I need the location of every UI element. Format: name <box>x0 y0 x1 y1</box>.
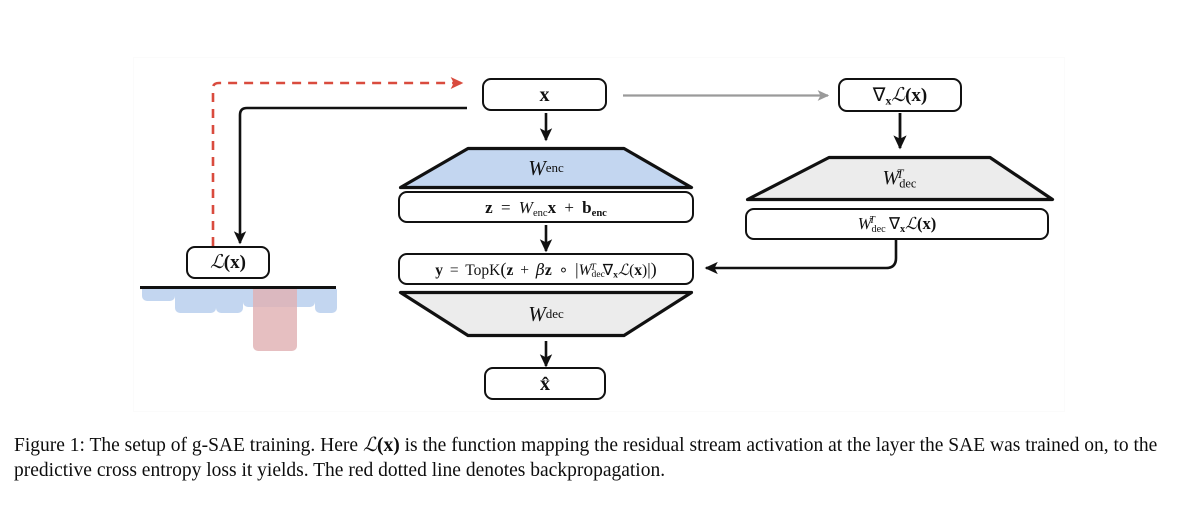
decoder-trapezoid-shape <box>398 290 694 338</box>
node-gradient-loss[interactable]: ∇xℒ(x) ∇_x ℒ(x) <box>838 78 962 112</box>
node-encoder-trapezoid[interactable]: Wenc <box>398 146 694 190</box>
loss-activation-bar-chart <box>140 286 345 386</box>
encoder-equation-math: z = Wencx + benc <box>485 199 607 216</box>
bar-item <box>175 289 216 313</box>
node-input-x[interactable]: x <box>482 78 607 111</box>
node-loss-Lx[interactable]: ℒ(x) ℒ(x) <box>186 246 270 279</box>
node-projected-gradient[interactable]: WdecT∇xℒ(x) W_dec^T ∇_x ℒ(x) <box>745 208 1049 240</box>
node-xhat-label: x̂ <box>540 374 550 394</box>
node-decoder-trapezoid[interactable]: Wdec <box>398 290 694 338</box>
loss-Lx-math: ℒ(x) <box>210 253 246 272</box>
bar-item <box>216 289 243 313</box>
node-topk-equation[interactable]: y = TopK(z + βz ∘ |WdecT∇xℒ(x)|) y = Top… <box>398 253 694 285</box>
encoder-trapezoid-shape <box>398 146 694 190</box>
gradient-loss-math: ∇xℒ(x) <box>873 86 927 105</box>
node-reconstruction-xhat[interactable]: x̂ <box>484 367 606 400</box>
node-input-x-label: x <box>540 85 550 105</box>
bar-item <box>142 289 175 301</box>
node-decoder-transpose-trapezoid[interactable]: WdecT W <box>745 155 1055 202</box>
bar-item <box>315 289 337 313</box>
topk-equation-math: y = TopK(z + βz ∘ |WdecT∇xℒ(x)|) <box>435 260 656 279</box>
figure-caption-text: Figure 1: The setup of g-SAE training. H… <box>14 435 1157 481</box>
projected-gradient-math: WdecT∇xℒ(x) <box>858 216 937 233</box>
figure-caption: Figure 1: The setup of g-SAE training. H… <box>14 432 1190 483</box>
decoder-transpose-trapezoid-shape <box>745 155 1055 202</box>
bar-item-highlight <box>253 289 297 351</box>
node-encoder-equation[interactable]: z = Wencx + benc z = W_enc x + b_enc <box>398 191 694 223</box>
